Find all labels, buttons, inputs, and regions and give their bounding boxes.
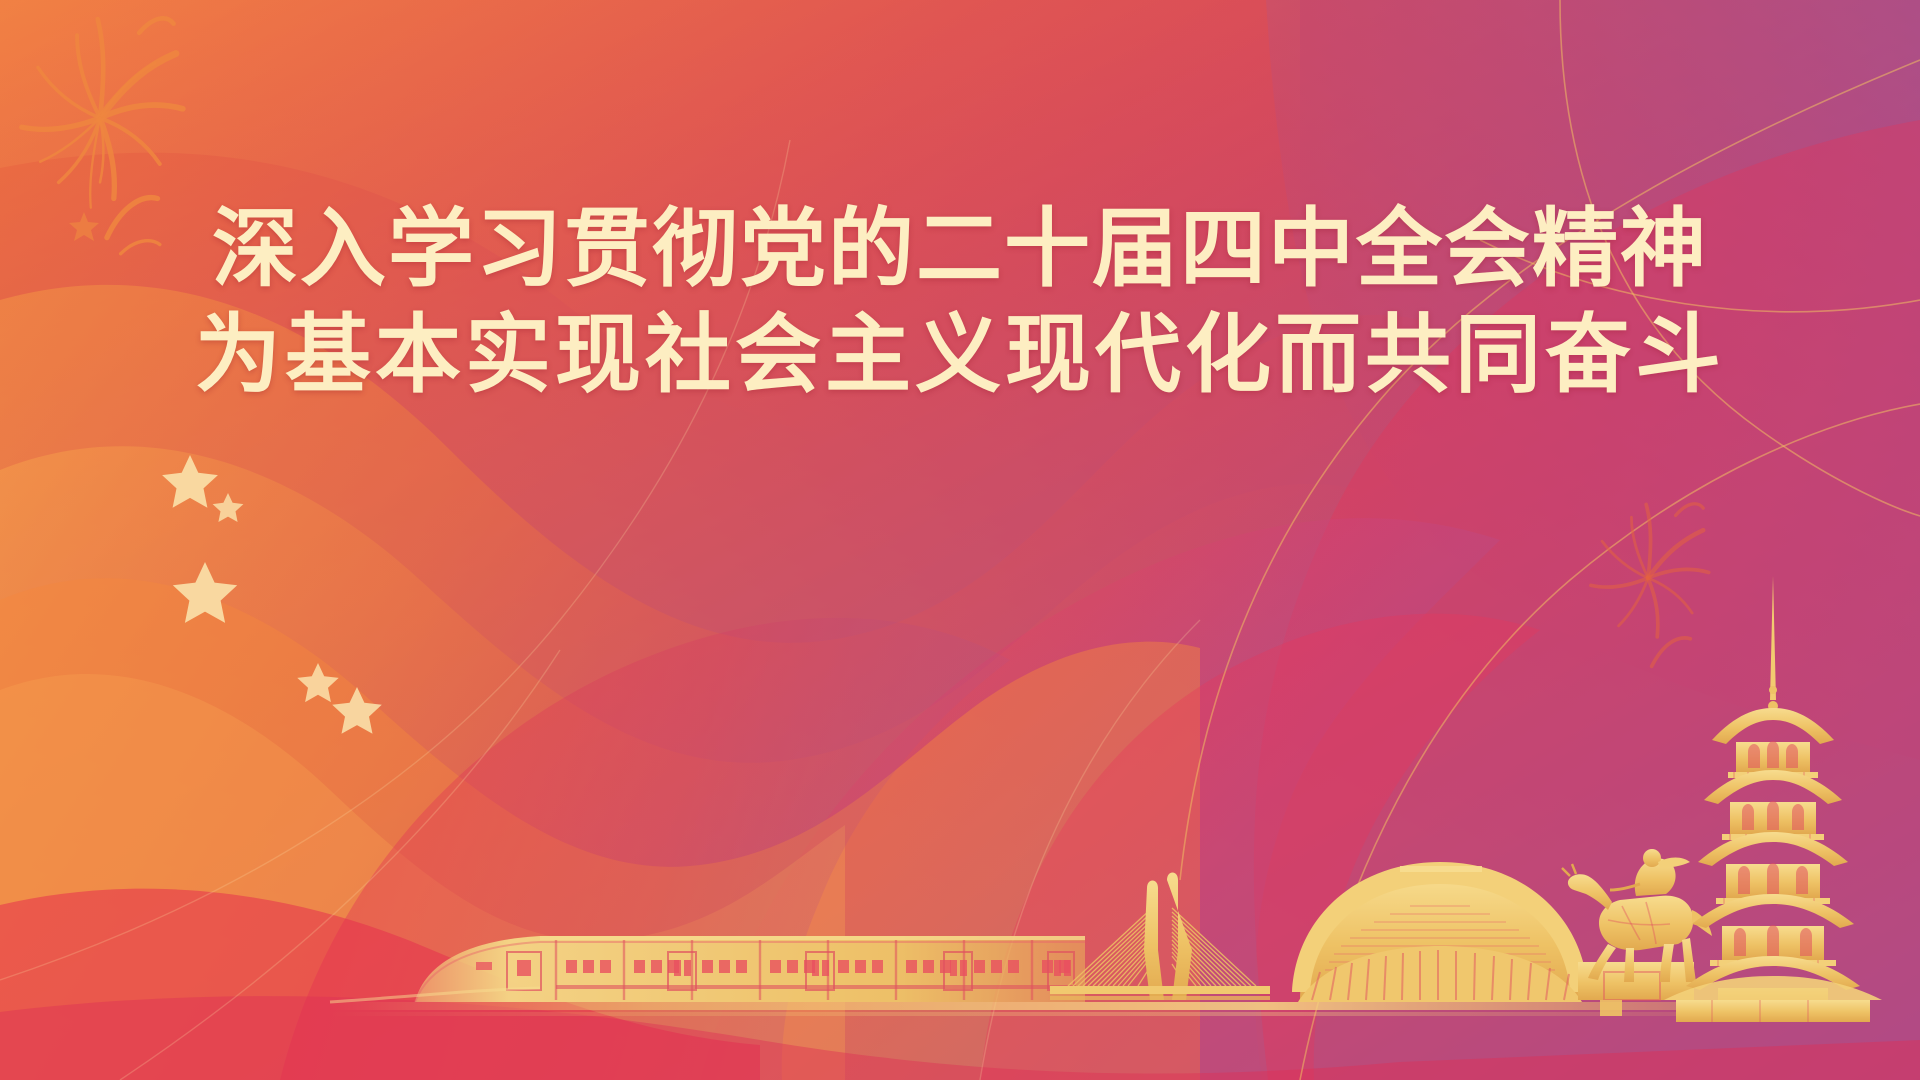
banner-canvas: 深入学习贯彻党的二十届四中全会精神 为基本实现社会主义现代化而共同奋斗 [0,0,1920,1080]
arena-building-icon [1292,862,1588,1002]
pagoda-tower-icon [1664,576,1882,1022]
high-speed-train-icon [330,936,1085,1002]
city-skyline-illustration [0,0,1920,1080]
ground-line [330,1002,1770,1010]
